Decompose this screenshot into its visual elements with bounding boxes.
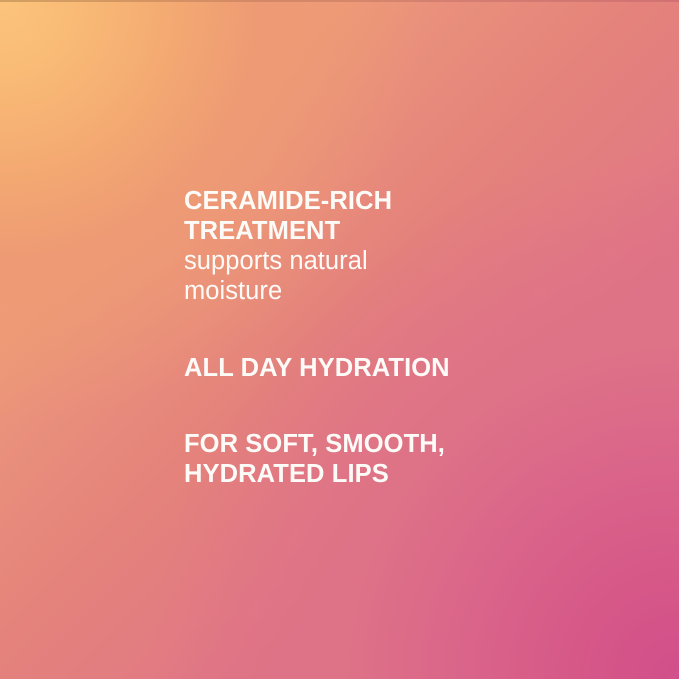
- benefit-line: FOR SOFT, SMOOTH,: [184, 429, 604, 459]
- benefit-block-soft-smooth-lips: FOR SOFT, SMOOTH, HYDRATED LIPS: [184, 429, 604, 489]
- product-benefit-panel: CERAMIDE-RICH TREATMENT supports natural…: [0, 0, 679, 679]
- benefit-line: ALL DAY HYDRATION: [184, 353, 604, 383]
- benefit-line: HYDRATED LIPS: [184, 459, 604, 489]
- benefit-block-all-day-hydration: ALL DAY HYDRATION: [184, 353, 604, 383]
- benefit-block-ceramide-treatment: CERAMIDE-RICH TREATMENT supports natural…: [184, 186, 604, 306]
- benefit-line: TREATMENT: [184, 216, 604, 246]
- benefit-copy-stack: CERAMIDE-RICH TREATMENT supports natural…: [184, 186, 604, 489]
- benefit-line: moisture: [184, 276, 604, 306]
- benefit-line: CERAMIDE-RICH: [184, 186, 604, 216]
- benefit-line: supports natural: [184, 246, 604, 276]
- top-edge-hairline: [0, 0, 679, 2]
